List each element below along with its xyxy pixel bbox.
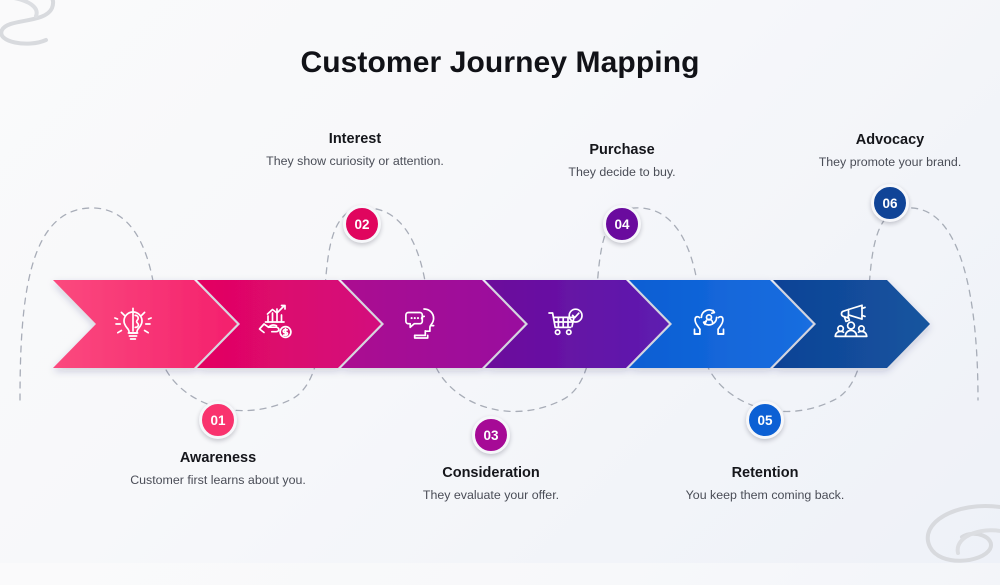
step-desc-2: They show curiosity or attention. <box>225 154 485 170</box>
step-text-5: Retention You keep them coming back. <box>635 465 895 504</box>
step-text-1: Awareness Customer first learns about yo… <box>88 450 348 489</box>
step-number-1: 01 <box>210 413 225 428</box>
step-badge-6[interactable]: 06 <box>871 184 909 222</box>
step-title-3: Consideration <box>361 465 621 482</box>
slide-canvas: Customer Journey Mapping <box>0 0 1000 563</box>
step-desc-4: They decide to buy. <box>492 165 752 181</box>
step-desc-5: You keep them coming back. <box>635 488 895 504</box>
step-desc-3: They evaluate your offer. <box>361 488 621 504</box>
step-number-6: 06 <box>882 196 897 211</box>
step-badge-1[interactable]: 01 <box>199 401 237 439</box>
step-title-5: Retention <box>635 465 895 482</box>
step-number-4: 04 <box>614 217 629 232</box>
step-badge-3[interactable]: 03 <box>472 416 510 454</box>
step-desc-1: Customer first learns about you. <box>88 473 348 489</box>
step-title-4: Purchase <box>492 142 752 159</box>
step-number-2: 02 <box>354 217 369 232</box>
step-badge-4[interactable]: 04 <box>603 205 641 243</box>
step-badge-2[interactable]: 02 <box>343 205 381 243</box>
step-badge-5[interactable]: 05 <box>746 401 784 439</box>
step-text-4: Purchase They decide to buy. <box>492 142 752 181</box>
step-text-6: Advocacy They promote your brand. <box>760 132 1000 171</box>
step-desc-6: They promote your brand. <box>760 155 1000 171</box>
step-number-5: 05 <box>757 413 772 428</box>
step-title-2: Interest <box>225 131 485 148</box>
step-title-1: Awareness <box>88 450 348 467</box>
step-title-6: Advocacy <box>760 132 1000 149</box>
step-text-3: Consideration They evaluate your offer. <box>361 465 621 504</box>
step-text-2: Interest They show curiosity or attentio… <box>225 131 485 170</box>
step-number-3: 03 <box>483 428 498 443</box>
